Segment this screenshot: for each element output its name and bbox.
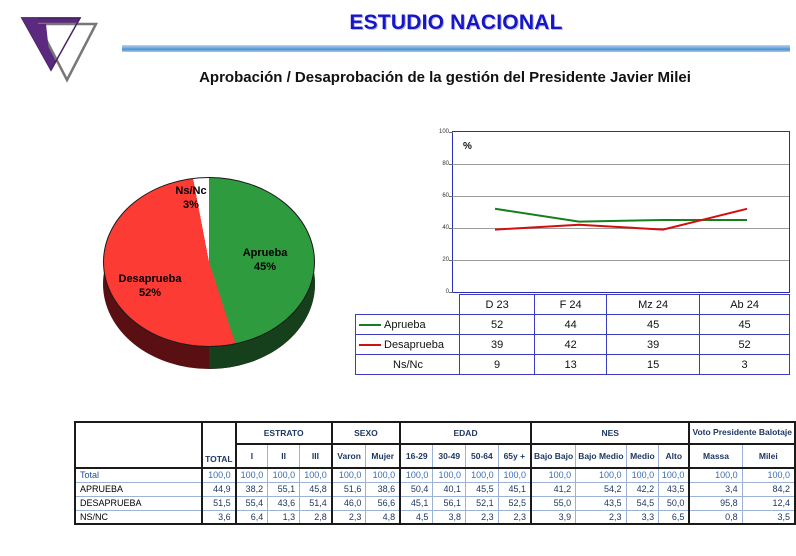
- crosstab-cell: 1,3: [268, 510, 300, 524]
- crosstab-sub-varon: Varon: [332, 444, 366, 468]
- crosstab-cell: 12,4: [742, 496, 795, 510]
- legend-label-aprueba: Aprueba: [356, 315, 460, 335]
- crosstab-cell: 100,0: [236, 468, 268, 482]
- crosstab-group-voto: Voto Presidente Balotaje: [689, 422, 795, 444]
- legend-row-nsnc: Ns/Nc 9 13 15 3: [356, 355, 790, 375]
- y-axis-tick-label: 100: [439, 129, 449, 135]
- y-axis-tick-mark: [449, 292, 453, 293]
- crosstab-cell: 55,1: [268, 482, 300, 496]
- crosstab-cell: 84,2: [742, 482, 795, 496]
- legend-label-desaprueba: Desaprueba: [356, 335, 460, 355]
- legend-row-desaprueba: Desaprueba 39 42 39 52: [356, 335, 790, 355]
- pie-chart: Aprueba 45% Desaprueba 52% Ns/Nc 3%: [95, 163, 325, 383]
- table-row: NS/NC3,66,41,32,82,34,84,53,82,32,33,92,…: [75, 510, 795, 524]
- crosstab-sub-bajo-medio: Bajo Medio: [576, 444, 626, 468]
- crosstab-cell: 45,8: [300, 482, 332, 496]
- crosstab-cell: 0,8: [689, 510, 742, 524]
- crosstab-cell: 2,3: [576, 510, 626, 524]
- crosstab-cell: 51,6: [332, 482, 366, 496]
- crosstab-cell-total: 3,6: [202, 510, 236, 524]
- legend-label-nsnc: Ns/Nc: [356, 355, 460, 375]
- crosstab-cell: 54,5: [626, 496, 659, 510]
- crosstab-group-header-row: TOTAL ESTRATO SEXO EDAD NES Voto Preside…: [75, 422, 795, 444]
- crosstab-cell: 95,8: [689, 496, 742, 510]
- crosstab-cell: 100,0: [332, 468, 366, 482]
- legend-corner-cell: [356, 295, 460, 315]
- slide-canvas: ESTUDIO NACIONAL Aprobación / Desaprobac…: [0, 0, 796, 556]
- crosstab-sub-estrato-ii: II: [268, 444, 300, 468]
- legend-value: 9: [460, 355, 535, 375]
- crosstab-cell: 100,0: [433, 468, 466, 482]
- crosstab-row-label: DESAPRUEBA: [75, 496, 202, 510]
- crosstab-cell: 50,4: [400, 482, 433, 496]
- crosstab-cell: 38,6: [366, 482, 400, 496]
- pie-label-nsnc: Ns/Nc 3%: [155, 185, 227, 213]
- crosstab-cell: 52,5: [498, 496, 531, 510]
- crosstab-group-total: TOTAL: [202, 422, 236, 468]
- legend-value: 44: [535, 315, 607, 335]
- line-chart: % 020406080100: [452, 131, 790, 293]
- crosstab-cell: 2,8: [300, 510, 332, 524]
- page-title: ESTUDIO NACIONAL: [122, 11, 790, 35]
- legend-label-desaprueba-text: Desaprueba: [384, 339, 444, 351]
- legend-swatch-green-icon: [359, 324, 381, 326]
- legend-col-3: Ab 24: [700, 295, 790, 315]
- crosstab-cell: 50,0: [659, 496, 690, 510]
- crosstab-cell: 56,1: [433, 496, 466, 510]
- legend-col-1: F 24: [535, 295, 607, 315]
- crosstab-sub-milei: Milei: [742, 444, 795, 468]
- legend-label-aprueba-text: Aprueba: [384, 319, 426, 331]
- crosstab-sub-50-64: 50-64: [466, 444, 499, 468]
- line-chart-plot: 020406080100: [453, 132, 789, 292]
- crosstab-cell: 55,0: [531, 496, 576, 510]
- crosstab-cell: 6,5: [659, 510, 690, 524]
- series-legend-table: D 23 F 24 Mz 24 Ab 24 Aprueba 52 44 45 4…: [355, 294, 790, 375]
- crosstab-sub-mujer: Mujer: [366, 444, 400, 468]
- y-axis-tick-label: 80: [442, 161, 449, 167]
- crosstab-cell: 52,1: [466, 496, 499, 510]
- crosstab-group-sexo: SEXO: [332, 422, 400, 444]
- legend-swatch-red-icon: [359, 344, 381, 346]
- crosstab-cell: 2,3: [498, 510, 531, 524]
- crosstab-cell: 43,5: [659, 482, 690, 496]
- crosstab-cell: 4,8: [366, 510, 400, 524]
- pie-label-desaprueba-value: 52%: [139, 287, 161, 299]
- pie-label-aprueba-name: Aprueba: [243, 247, 288, 259]
- crosstab-sub-16-29: 16-29: [400, 444, 433, 468]
- crosstab-cell-total: 44,9: [202, 482, 236, 496]
- legend-value: 45: [607, 315, 700, 335]
- crosstab-cell: 6,4: [236, 510, 268, 524]
- double-triangle-logo-icon: [8, 8, 104, 90]
- y-axis-tick-label: 20: [442, 257, 449, 263]
- legend-value: 15: [607, 355, 700, 375]
- crosstab-cell: 3,8: [433, 510, 466, 524]
- legend-value: 52: [700, 335, 790, 355]
- crosstab-cell: 56,6: [366, 496, 400, 510]
- crosstab-cell: 38,2: [236, 482, 268, 496]
- crosstab-sub-massa: Massa: [689, 444, 742, 468]
- legend-value: 39: [607, 335, 700, 355]
- crosstab-cell: 100,0: [531, 468, 576, 482]
- chart-line-aprueba: [495, 209, 747, 222]
- crosstab-cell: 100,0: [268, 468, 300, 482]
- crosstab-row-label: NS/NC: [75, 510, 202, 524]
- legend-value: 45: [700, 315, 790, 335]
- legend-row-aprueba: Aprueba 52 44 45 45: [356, 315, 790, 335]
- pie-label-nsnc-value: 3%: [183, 199, 199, 211]
- crosstab-cell: 41,2: [531, 482, 576, 496]
- legend-value: 13: [535, 355, 607, 375]
- crosstab-cell: 3,5: [742, 510, 795, 524]
- crosstab-cell: 100,0: [498, 468, 531, 482]
- crosstab-cell: 100,0: [366, 468, 400, 482]
- crosstab-cell: 2,3: [466, 510, 499, 524]
- crosstab-body: Total100,0100,0100,0100,0100,0100,0100,0…: [75, 468, 795, 524]
- pie-label-desaprueba: Desaprueba 52%: [100, 273, 200, 301]
- crosstab-table: TOTAL ESTRATO SEXO EDAD NES Voto Preside…: [74, 421, 796, 525]
- crosstab-sub-alto: Alto: [659, 444, 690, 468]
- crosstab-cell: 100,0: [576, 468, 626, 482]
- y-axis-tick-label: 40: [442, 225, 449, 231]
- crosstab-sub-estrato-i: I: [236, 444, 268, 468]
- legend-col-0: D 23: [460, 295, 535, 315]
- crosstab-cell: 51,4: [300, 496, 332, 510]
- legend-value: 42: [535, 335, 607, 355]
- table-row: Total100,0100,0100,0100,0100,0100,0100,0…: [75, 468, 795, 482]
- crosstab-cell: 43,5: [576, 496, 626, 510]
- crosstab-cell: 45,1: [400, 496, 433, 510]
- crosstab-sub-estrato-iii: III: [300, 444, 332, 468]
- crosstab-sub-medio: Medio: [626, 444, 659, 468]
- crosstab-cell: 55,4: [236, 496, 268, 510]
- crosstab-cell: 4,5: [400, 510, 433, 524]
- title-divider: [122, 45, 790, 52]
- crosstab-cell-total: 100,0: [202, 468, 236, 482]
- legend-header-row: D 23 F 24 Mz 24 Ab 24: [356, 295, 790, 315]
- crosstab-cell: 3,4: [689, 482, 742, 496]
- crosstab-cell-total: 51,5: [202, 496, 236, 510]
- crosstab-cell: 3,9: [531, 510, 576, 524]
- crosstab-cell: 45,5: [466, 482, 499, 496]
- crosstab-group-estrato: ESTRATO: [236, 422, 332, 444]
- crosstab-cell: 100,0: [400, 468, 433, 482]
- crosstab-cell: 45,1: [498, 482, 531, 496]
- table-row: DESAPRUEBA51,555,443,651,446,056,645,156…: [75, 496, 795, 510]
- crosstab-sub-65mas: 65y +: [498, 444, 531, 468]
- crosstab-group-nes: NES: [531, 422, 689, 444]
- crosstab-cell: 100,0: [300, 468, 332, 482]
- crosstab-cell: 40,1: [433, 482, 466, 496]
- chart-series-layer: [453, 132, 789, 292]
- crosstab-cell: 100,0: [742, 468, 795, 482]
- crosstab-row-label: APRUEBA: [75, 482, 202, 496]
- crosstab-cell: 42,2: [626, 482, 659, 496]
- crosstab-cell: 46,0: [332, 496, 366, 510]
- crosstab-cell: 54,2: [576, 482, 626, 496]
- pie-label-aprueba-value: 45%: [254, 261, 276, 273]
- crosstab-cell: 2,3: [332, 510, 366, 524]
- crosstab-cell: 100,0: [689, 468, 742, 482]
- pie-label-desaprueba-name: Desaprueba: [119, 273, 182, 285]
- legend-value: 3: [700, 355, 790, 375]
- crosstab-corner: [75, 422, 202, 468]
- pie-label-aprueba: Aprueba 45%: [220, 247, 310, 275]
- crosstab-sub-30-49: 30-49: [433, 444, 466, 468]
- legend-value: 39: [460, 335, 535, 355]
- legend-col-2: Mz 24: [607, 295, 700, 315]
- table-row: APRUEBA44,938,255,145,851,638,650,440,14…: [75, 482, 795, 496]
- page-subtitle: Aprobación / Desaprobación de la gestión…: [100, 69, 790, 86]
- crosstab-row-label: Total: [75, 468, 202, 482]
- y-axis-tick-label: 60: [442, 193, 449, 199]
- pie-label-nsnc-name: Ns/Nc: [175, 185, 206, 197]
- crosstab-cell: 43,6: [268, 496, 300, 510]
- crosstab-cell: 3,3: [626, 510, 659, 524]
- legend-value: 52: [460, 315, 535, 335]
- crosstab-group-edad: EDAD: [400, 422, 531, 444]
- crosstab-cell: 100,0: [626, 468, 659, 482]
- crosstab-sub-bajo-bajo: Bajo Bajo: [531, 444, 576, 468]
- crosstab-cell: 100,0: [466, 468, 499, 482]
- crosstab-cell: 100,0: [659, 468, 690, 482]
